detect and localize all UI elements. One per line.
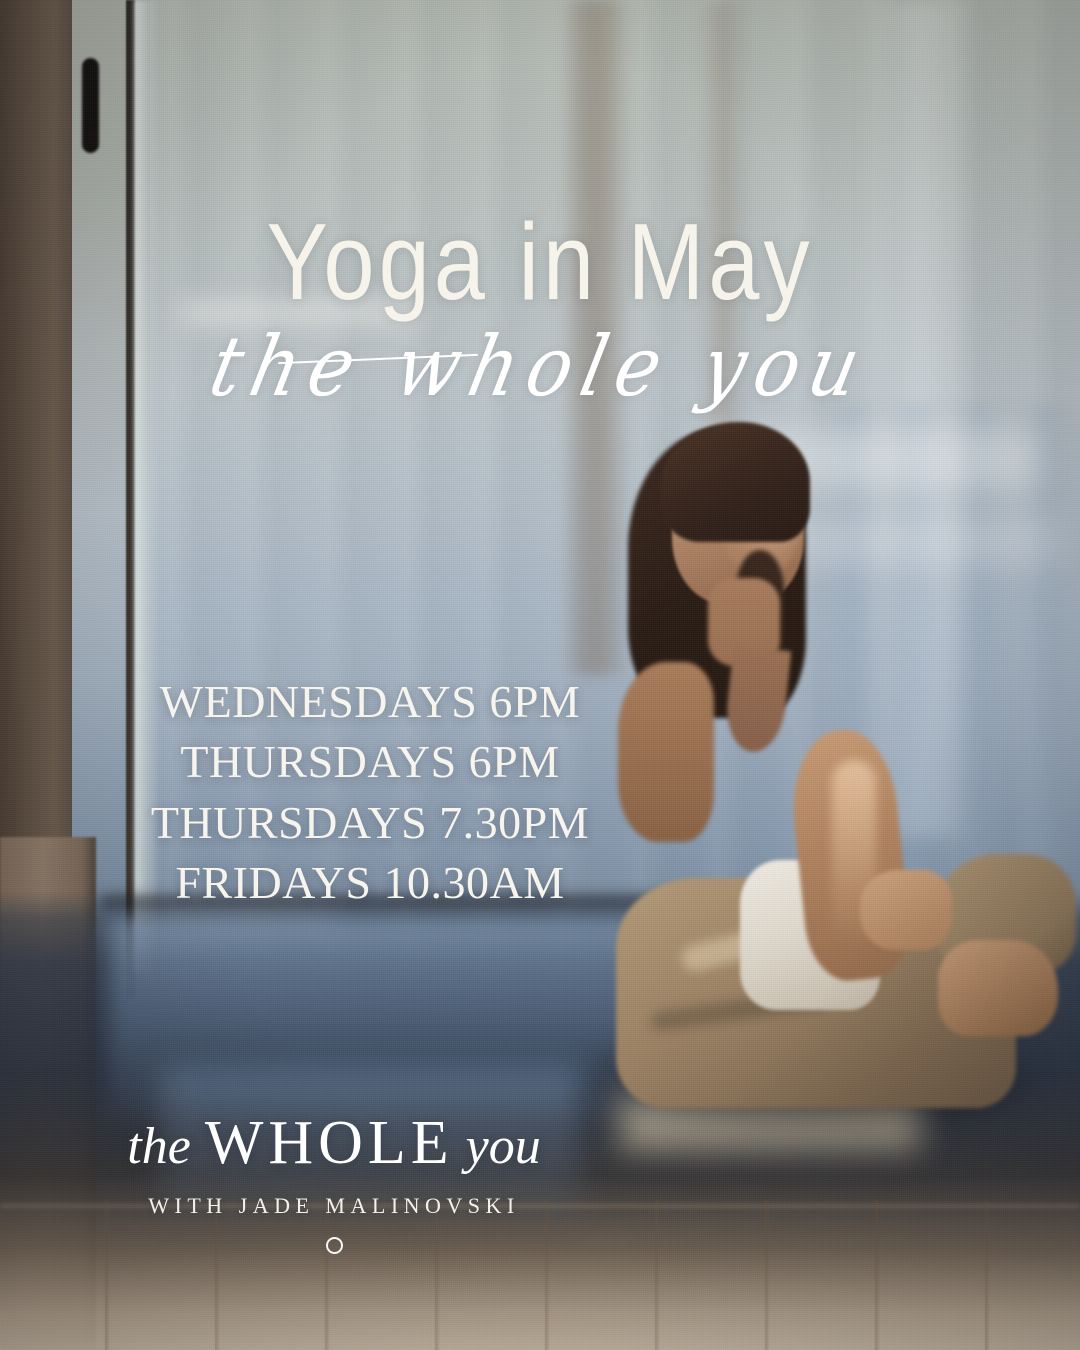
schedule-line: THURSDAYS 7.30PM: [60, 793, 680, 853]
logo-word-whole: WHOLE: [205, 1109, 454, 1177]
schedule-line: FRIDAYS 10.30AM: [60, 853, 680, 913]
text-overlay: Yoga in May the whole you WEDNESDAYS 6PM…: [0, 0, 1080, 1350]
logo-tagline: WITH JADE MALINOVSKI: [54, 1193, 614, 1219]
schedule-line: THURSDAYS 6PM: [60, 732, 680, 792]
schedule-line: WEDNESDAYS 6PM: [60, 672, 680, 732]
logo-word-the: the: [127, 1118, 191, 1175]
page-title: Yoga in May: [0, 208, 1080, 317]
logo-word-you: you: [466, 1118, 541, 1175]
logo-wordmark: theWHOLEyou: [54, 1108, 614, 1179]
class-schedule-list: WEDNESDAYS 6PM THURSDAYS 6PM THURSDAYS 7…: [60, 672, 680, 913]
yoga-class-poster: Yoga in May the whole you WEDNESDAYS 6PM…: [0, 0, 1080, 1350]
circle-outline-icon: [326, 1237, 343, 1254]
script-subtitle: the whole you: [0, 326, 1080, 409]
brand-logo: theWHOLEyou WITH JADE MALINOVSKI: [54, 1108, 614, 1254]
